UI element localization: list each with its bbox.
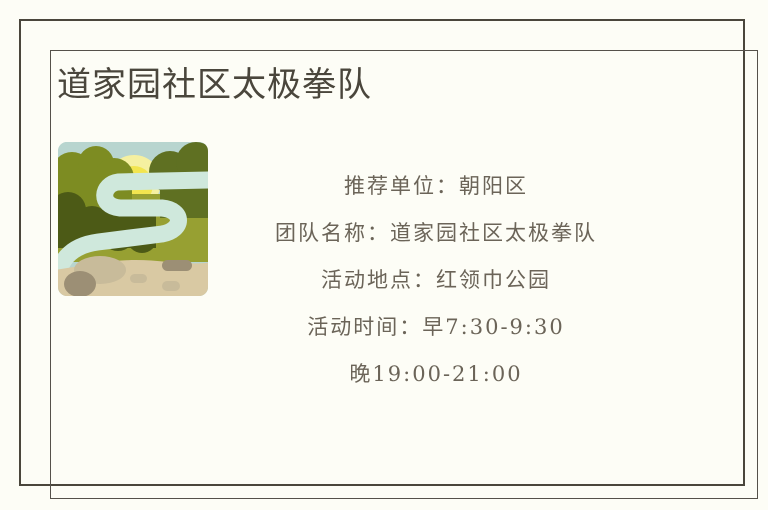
team-info-block: 推荐单位：朝阳区 团队名称：道家园社区太极拳队 活动地点：红领巾公园 活动时间：… (218, 163, 654, 398)
info-line-recommending-unit: 推荐单位：朝阳区 (218, 163, 654, 210)
landscape-river-illustration (58, 142, 208, 296)
info-line-team-name: 团队名称：道家园社区太极拳队 (218, 210, 654, 257)
info-line-activity-time-morning: 活动时间：早7:30-9:30 (218, 304, 654, 351)
page-title: 道家园社区太极拳队 (57, 63, 372, 107)
info-line-activity-time-evening: 晚19:00-21:00 (218, 351, 654, 398)
info-line-activity-location: 活动地点：红领巾公园 (218, 257, 654, 304)
